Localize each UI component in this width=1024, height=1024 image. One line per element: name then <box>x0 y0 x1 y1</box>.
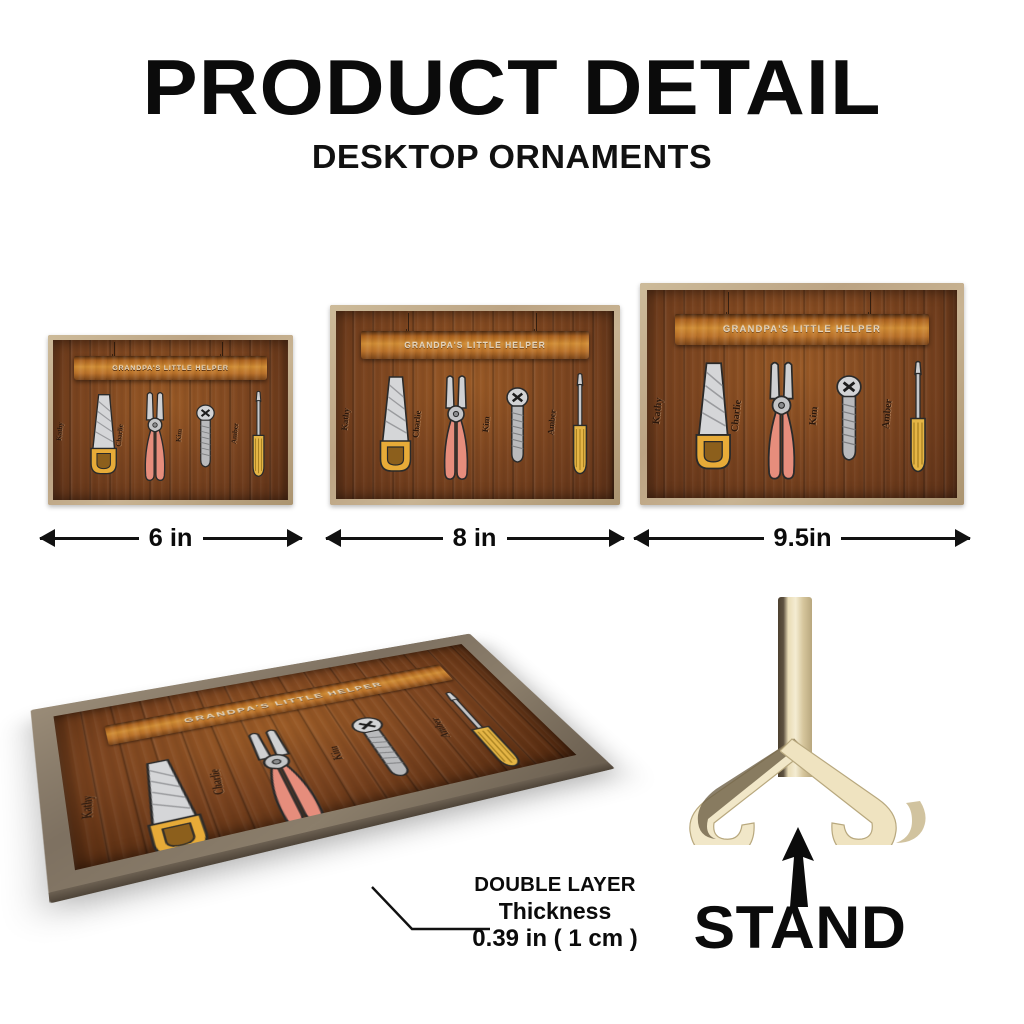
page-title: PRODUCT DETAIL <box>0 48 1024 126</box>
handsaw-icon <box>372 375 415 475</box>
tool-name-label: Kathy <box>340 408 351 431</box>
banner-hook-right-icon <box>536 313 537 333</box>
dimension-arrow-6in: 6 in <box>40 521 302 555</box>
arrow-right-icon <box>203 537 302 540</box>
plaque-6in: GRANDPA'S LITTLE HELPER <box>48 335 293 505</box>
handsaw-icon <box>687 361 735 473</box>
tool-name-label: Kim <box>809 406 821 426</box>
plaque-8in: GRANDPA'S LITTLE HELPER <box>330 305 620 505</box>
tool-name-label: Kim <box>326 745 344 760</box>
arrow-left-icon <box>40 537 139 540</box>
banner-hook-left-icon <box>408 313 409 333</box>
size-comparison-row: GRANDPA'S LITTLE HELPER <box>0 215 1024 505</box>
perspective-board-view: GRANDPA'S LITTLE HELPER <box>28 575 618 905</box>
arrow-right-icon <box>841 537 971 540</box>
dimension-label: 9.5in <box>763 524 842 553</box>
tool-name-label: Kim <box>175 429 183 443</box>
screwdriver-icon <box>250 386 267 484</box>
tool-name-label: Amber <box>230 423 239 445</box>
banner-plank: GRANDPA'S LITTLE HELPER <box>675 314 929 345</box>
screwdriver-icon <box>570 367 590 483</box>
tools-group: Kathy Charlie Kim Amber <box>53 386 288 496</box>
banner-hook-left-icon <box>728 292 729 316</box>
tool-name-label: Kathy <box>79 795 94 820</box>
stand-illustration <box>630 585 970 885</box>
banner-text: GRANDPA'S LITTLE HELPER <box>404 341 546 349</box>
arrow-left-icon <box>634 537 764 540</box>
page-subtitle: DESKTOP ORNAMENTS <box>0 140 1024 173</box>
arrow-left-icon <box>326 537 443 540</box>
tool-name-label: Amber <box>882 398 895 429</box>
size-group-6in: GRANDPA'S LITTLE HELPER <box>48 335 293 505</box>
stand-label: STAND <box>623 898 977 958</box>
handsaw-icon <box>84 393 120 477</box>
plaque-wood-surface: GRANDPA'S LITTLE HELPER <box>53 340 288 500</box>
tool-name-label: Kathy <box>652 397 665 425</box>
banner-plank: GRANDPA'S LITTLE HELPER <box>74 356 267 380</box>
screw-icon <box>836 375 862 461</box>
screw-icon <box>346 715 419 780</box>
size-group-95in: GRANDPA'S LITTLE HELPER <box>640 283 964 505</box>
board-3d: GRANDPA'S LITTLE HELPER <box>31 634 609 895</box>
tool-name-label: Kim <box>481 416 491 433</box>
banner-plank: GRANDPA'S LITTLE HELPER <box>361 331 589 359</box>
dimension-label: 6 in <box>139 524 203 553</box>
pliers-icon <box>759 356 804 484</box>
product-detail-page: PRODUCT DETAIL DESKTOP ORNAMENTS GRANDPA… <box>0 0 1024 1024</box>
tools-group: Kathy Charlie Kim Amber <box>336 367 614 494</box>
tool-name-label: Charlie <box>411 411 422 439</box>
tools-group: Kathy Charlie Kim Amber <box>647 353 957 492</box>
screw-icon <box>506 387 529 463</box>
plaque-95in: GRANDPA'S LITTLE HELPER <box>640 283 964 505</box>
arrow-right-icon <box>507 537 624 540</box>
dimension-label: 8 in <box>443 524 507 553</box>
pliers-icon <box>436 370 476 484</box>
size-group-8in: GRANDPA'S LITTLE HELPER <box>330 305 620 505</box>
banner-text: GRANDPA'S LITTLE HELPER <box>112 365 229 371</box>
tool-name-label: Amber <box>546 409 557 435</box>
banner-hook-right-icon <box>870 292 871 316</box>
dimension-arrow-8in: 8 in <box>326 521 624 555</box>
screwdriver-icon <box>907 353 929 483</box>
plaque-wood-surface: GRANDPA'S LITTLE HELPER <box>647 290 957 498</box>
tool-name-label: Charlie <box>207 768 226 796</box>
plaque-wood-surface: GRANDPA'S LITTLE HELPER <box>336 311 614 499</box>
tool-name-label: Charlie <box>116 424 125 447</box>
tool-name-label: Charlie <box>731 400 744 433</box>
tool-name-label: Kathy <box>56 422 65 441</box>
pliers-icon <box>138 388 172 484</box>
screw-icon <box>196 404 215 468</box>
banner-text: GRANDPA'S LITTLE HELPER <box>723 325 881 334</box>
dimension-arrow-95in: 9.5in <box>634 521 970 555</box>
tool-name-label: Amber <box>428 717 452 738</box>
